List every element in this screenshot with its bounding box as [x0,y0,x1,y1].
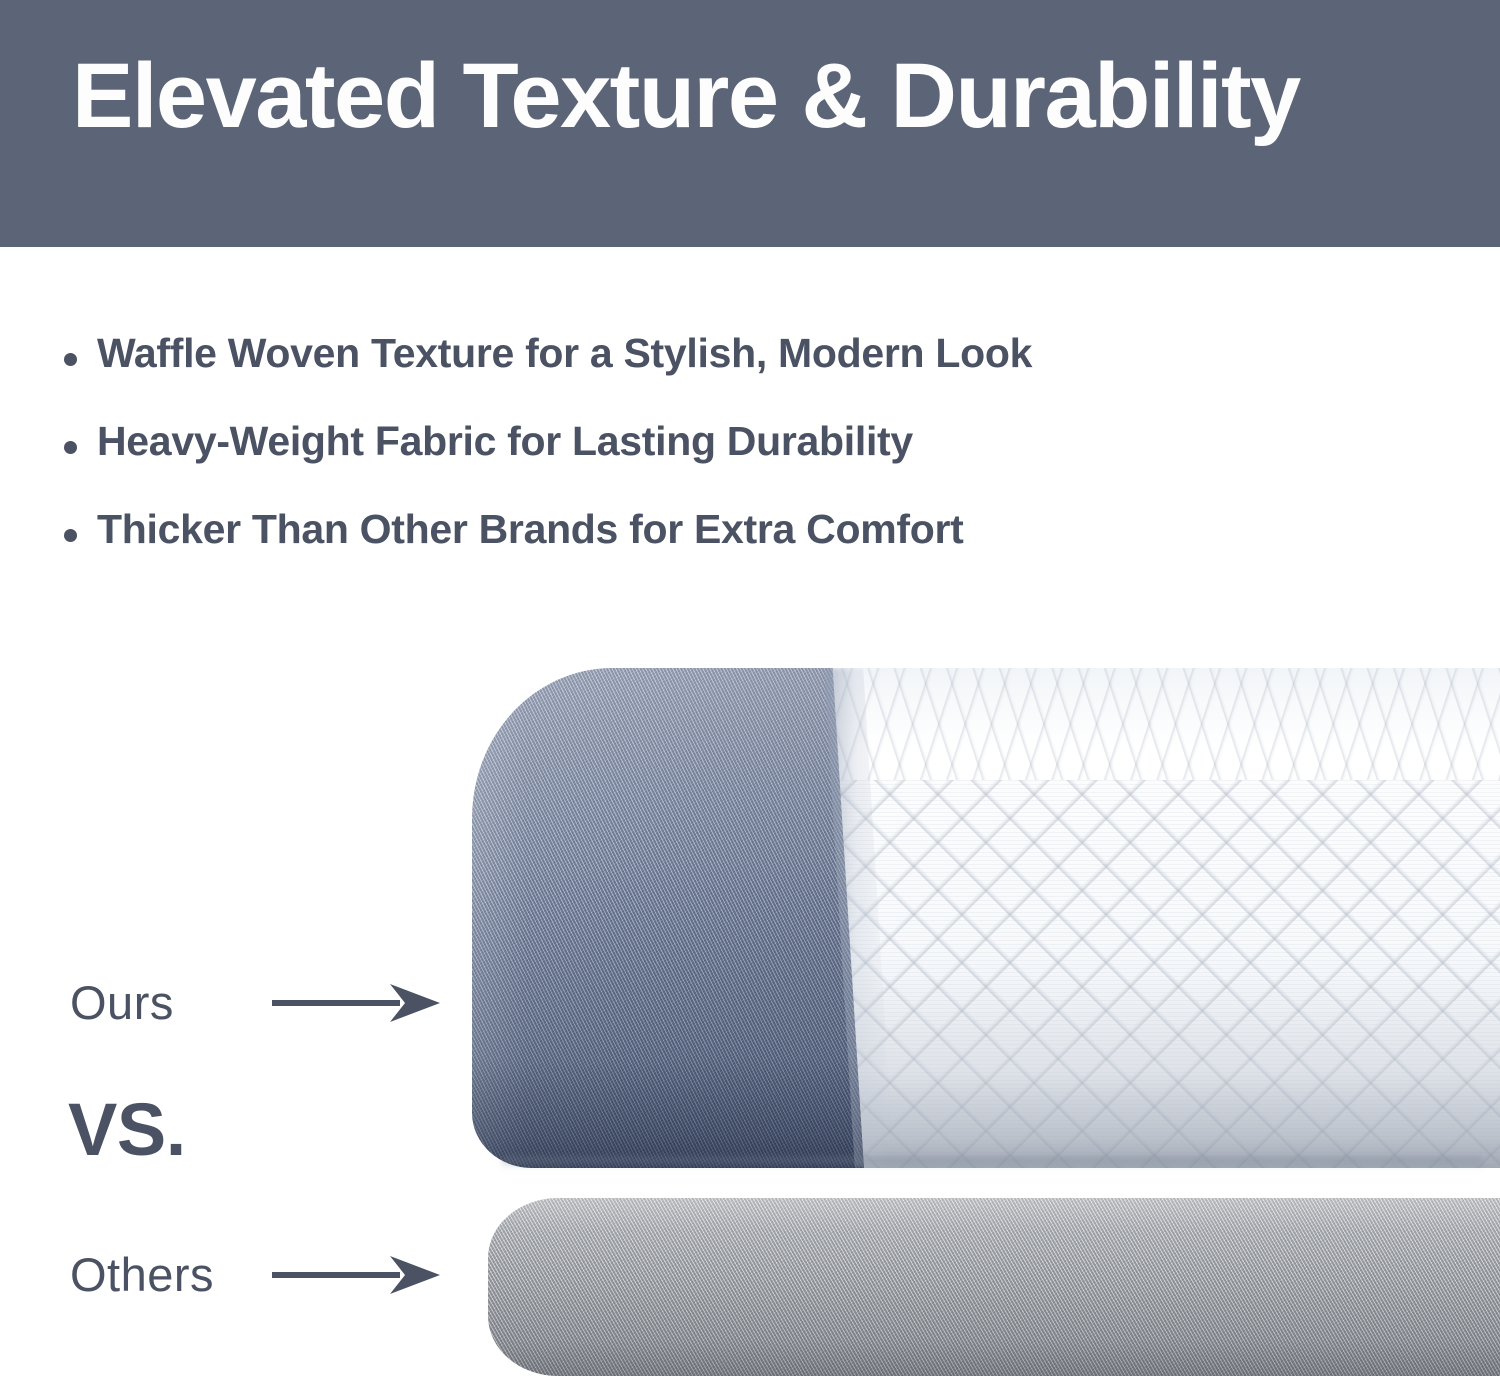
ours-drop-shadow [502,1157,1482,1169]
ours-product-image [472,668,1500,1168]
page-title: Elevated Texture & Durability [72,50,1300,142]
blue-linen-border-panel [472,668,864,1168]
feature-list: Waffle Woven Texture for a Stylish, Mode… [64,330,1314,594]
vs-label: VS. [68,1087,186,1172]
arrow-right-icon [272,1252,442,1298]
feature-item: Heavy-Weight Fabric for Lasting Durabili… [64,418,1314,506]
bullet-dot-icon [64,353,77,366]
feature-item-label: Thicker Than Other Brands for Extra Comf… [97,506,963,553]
feature-item-label: Heavy-Weight Fabric for Lasting Durabili… [97,418,913,465]
feature-item: Thicker Than Other Brands for Extra Comf… [64,506,1314,594]
ours-label: Ours [70,975,174,1030]
arrow-right-icon [272,980,442,1026]
others-label: Others [70,1247,214,1302]
ours-blanket-body [472,668,1500,1168]
feature-item-label: Waffle Woven Texture for a Stylish, Mode… [97,330,1032,377]
others-product-image [488,1198,1500,1376]
bullet-dot-icon [64,441,77,454]
bullet-dot-icon [64,529,77,542]
feature-item: Waffle Woven Texture for a Stylish, Mode… [64,330,1314,418]
header-banner: Elevated Texture & Durability [0,0,1500,247]
